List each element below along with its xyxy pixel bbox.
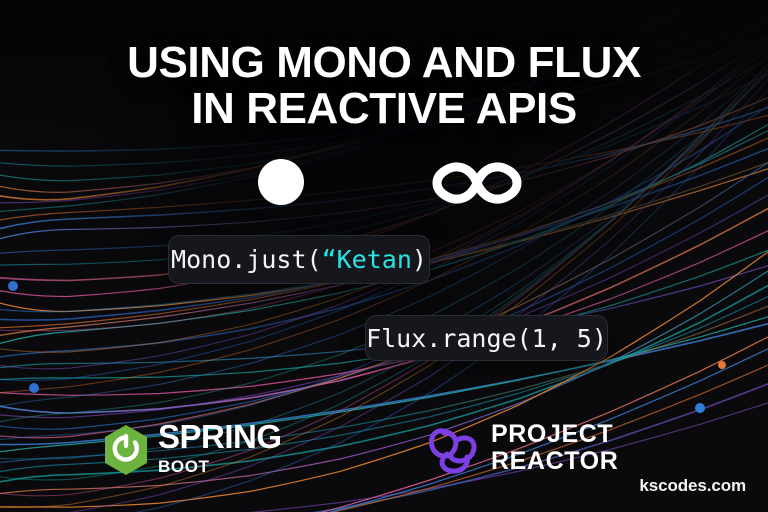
poster-canvas: USING MONO AND FLUX IN REACTIVE APIS Mon… — [0, 0, 768, 512]
poster-content: USING MONO AND FLUX IN REACTIVE APIS Mon… — [0, 0, 768, 512]
project-reactor-logo: PROJECT REACTOR — [427, 418, 627, 480]
code-flux-text: Flux.range(1, 5) — [366, 324, 607, 353]
code-mono-prefix: Mono.just( — [171, 245, 322, 274]
code-mono-suffix: ) — [412, 245, 427, 274]
spring-boot-hexagon-icon — [102, 424, 150, 476]
code-snippet-mono[interactable]: Mono.just(“Ketan) — [168, 235, 430, 284]
project-reactor-wordmark: PROJECT REACTOR — [491, 421, 618, 475]
code-mono-string: “Ketan — [322, 245, 412, 274]
project-word: PROJECT — [491, 421, 618, 448]
site-watermark: kscodes.com — [639, 476, 746, 496]
project-reactor-loops-icon — [427, 424, 481, 474]
boot-word: BOOT — [158, 457, 298, 477]
spring-word: SPRING — [158, 420, 298, 454]
spring-boot-logo: SPRING BOOT — [102, 420, 292, 480]
flux-infinity-icon — [418, 158, 536, 208]
page-title: USING MONO AND FLUX IN REACTIVE APIS — [0, 40, 768, 132]
spring-boot-wordmark: SPRING BOOT — [158, 420, 298, 477]
code-snippet-flux[interactable]: Flux.range(1, 5) — [365, 315, 608, 361]
mono-circle-icon — [258, 159, 304, 205]
reactor-word: REACTOR — [491, 448, 618, 475]
